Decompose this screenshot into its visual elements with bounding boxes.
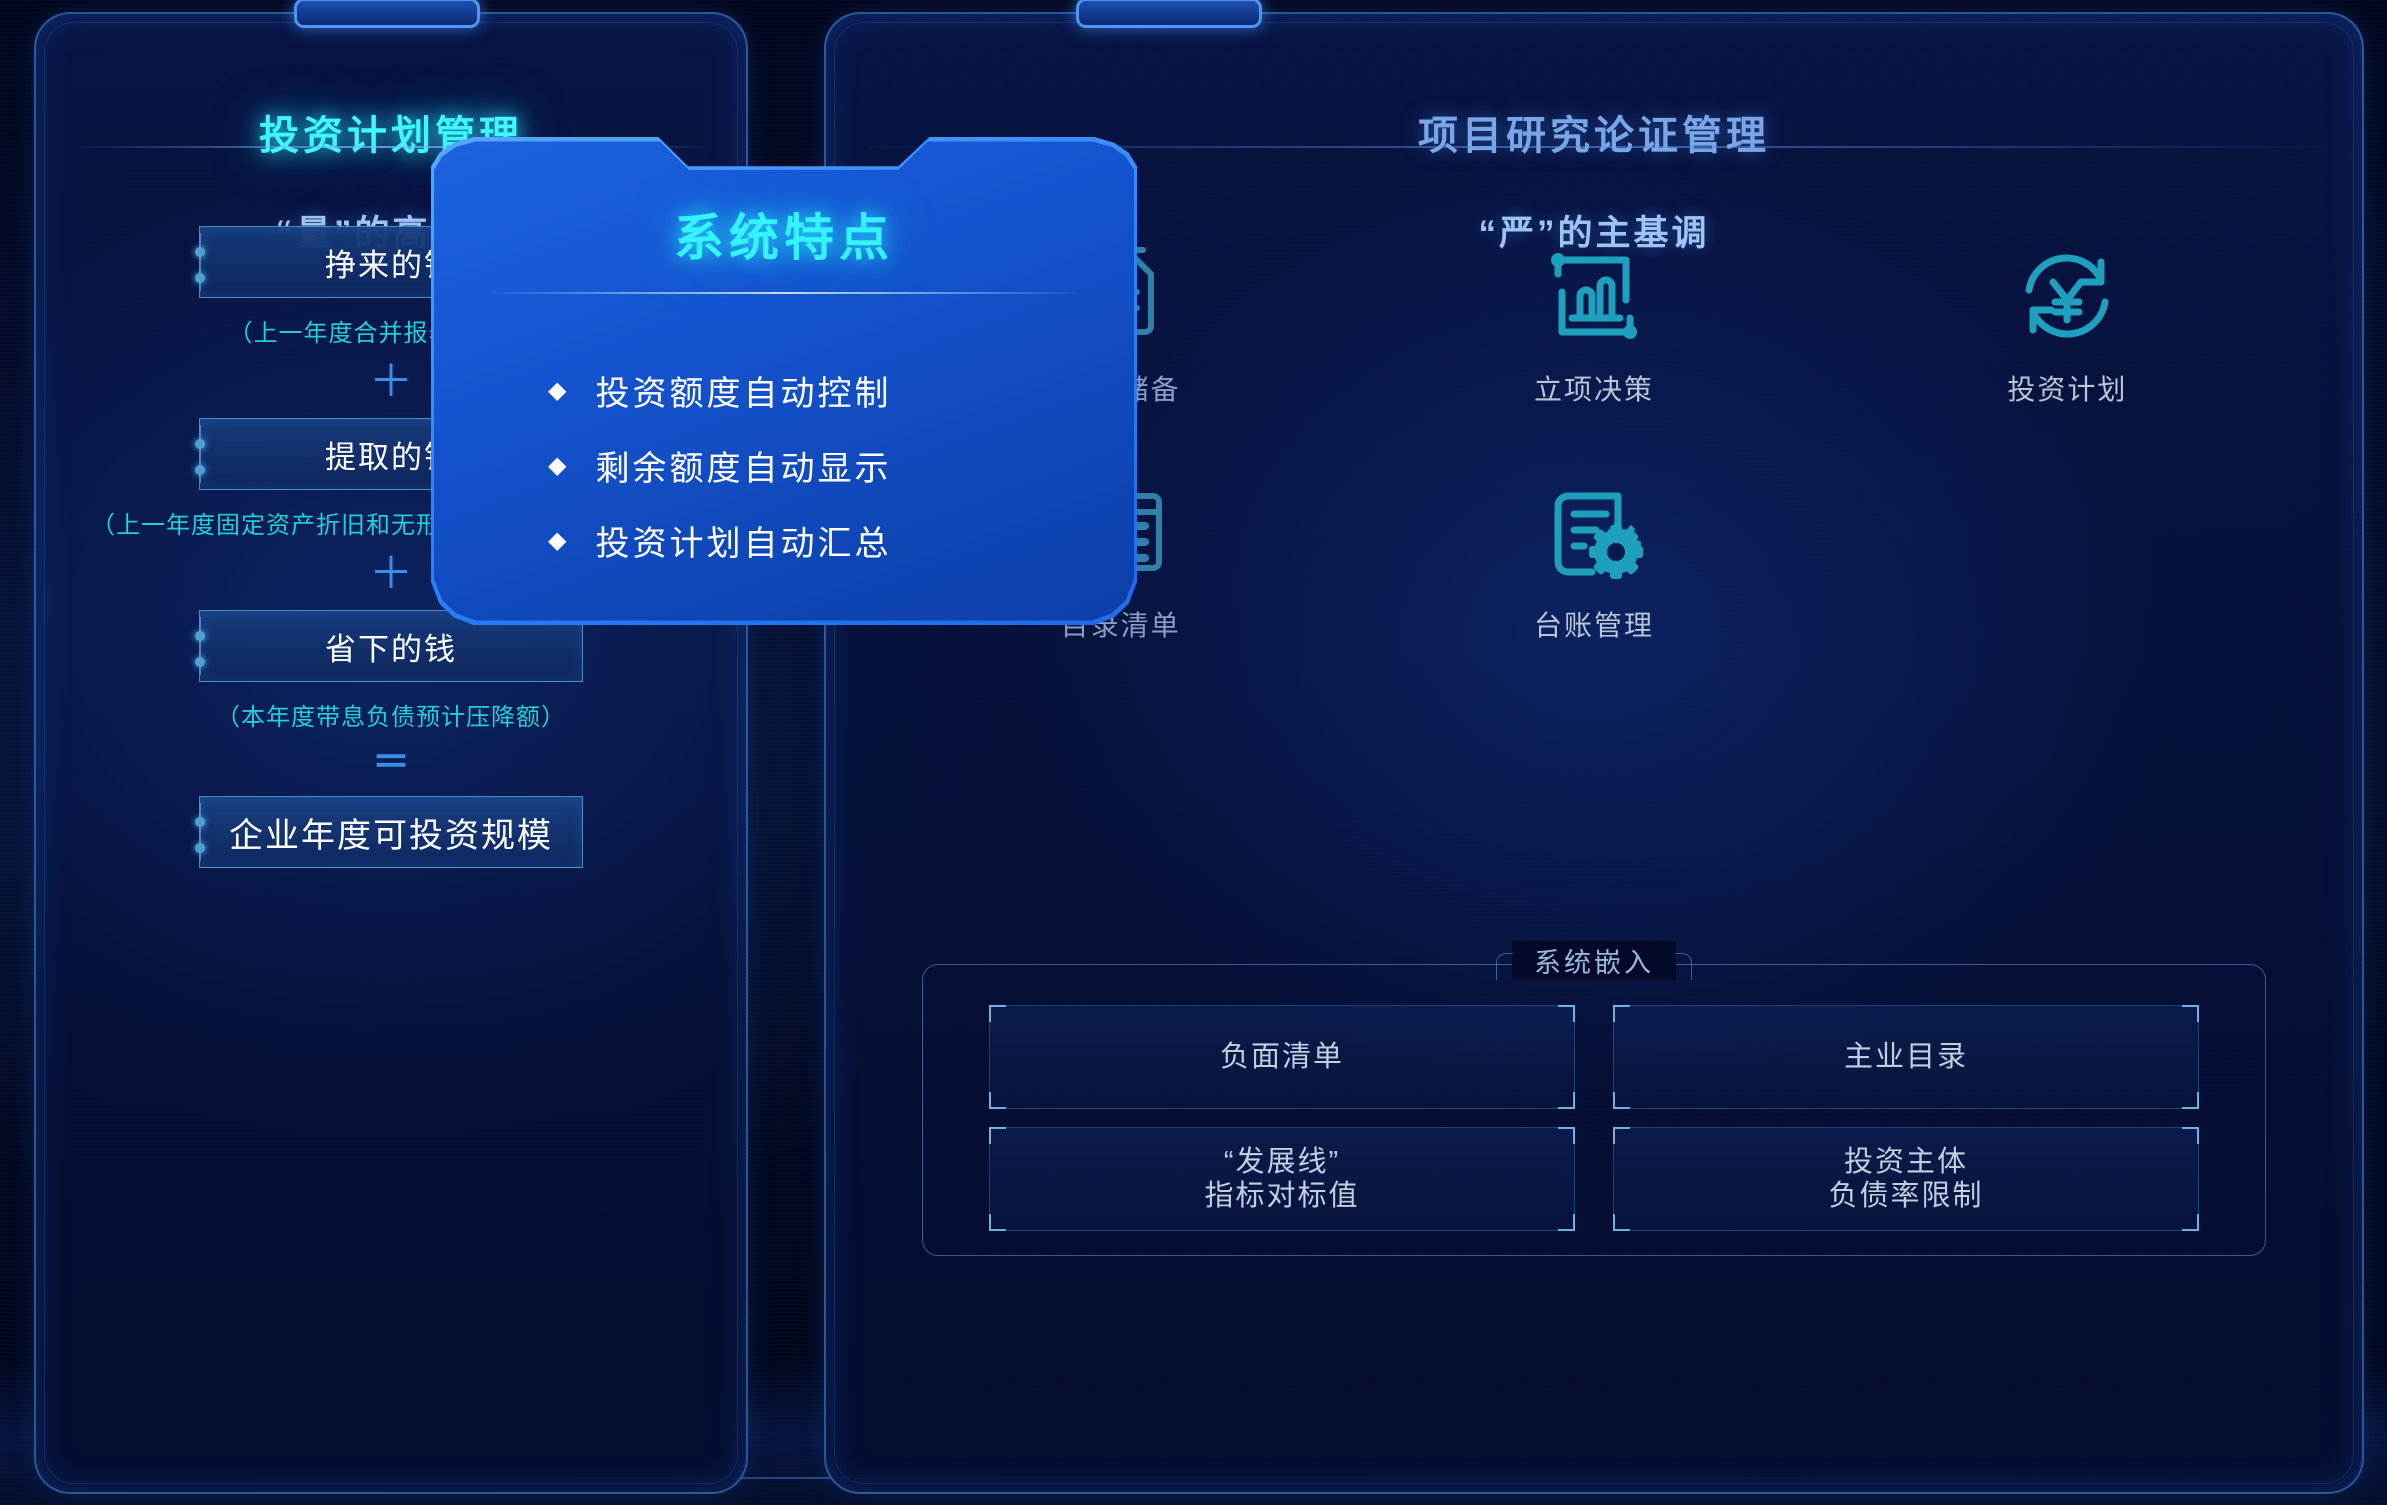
panel-notch-left [294,0,480,28]
corner-icon [1558,1005,1575,1022]
corner-icon [1613,1127,1630,1144]
corner-icon [1613,1005,1630,1022]
system-features-modal[interactable]: 系统特点 ◆ 投资额度自动控制 ◆ 剩余额度自动显示 ◆ 投资计划自动汇总 [434,140,1134,622]
embed-box-line2: 指标对标值 [1204,1180,1359,1212]
yen-refresh-icon [1831,242,2304,350]
modal-list-item-label: 投资额度自动控制 [595,366,891,415]
module-label: 立项决策 [1357,368,1830,408]
modal-feature-list: ◆ 投资额度自动控制 ◆ 剩余额度自动显示 ◆ 投资计划自动汇总 [474,366,1094,565]
formula-result-box[interactable]: 企业年度可投资规模 [199,796,583,868]
embed-box-line1: “发展线” [1224,1146,1340,1178]
corner-icon [1558,1127,1575,1144]
diamond-bullet-icon: ◆ [548,454,569,478]
corner-icon [2182,1092,2199,1109]
modal-divider [492,292,1076,294]
corner-icon [1558,1214,1575,1231]
modal-list-item[interactable]: ◆ 剩余额度自动显示 [548,441,1094,490]
embed-box-negative-list[interactable]: 负面清单 [989,1005,1575,1109]
formula-operator: ＝ [36,744,746,782]
module-item-project-decision[interactable]: 立项决策 [1357,242,1830,408]
bar-chart-bracket-icon [1357,242,1830,350]
module-item-ledger-management[interactable]: 台账管理 [1357,478,1830,644]
module-icon-spacer [1831,478,2304,644]
system-embed-grid: 负面清单 主业目录 “发展线” 指标对标值 [989,1005,2199,1231]
corner-icon [989,1005,1006,1022]
embed-box-line2: 负债率限制 [1828,1180,1983,1212]
corner-icon [1558,1092,1575,1109]
embed-box-development-line[interactable]: “发展线” 指标对标值 [989,1127,1575,1231]
corner-icon [1613,1092,1630,1109]
step-dot-bottom [195,273,205,283]
embed-box-investor-debt-ratio[interactable]: 投资主体 负债率限制 [1613,1127,2199,1231]
step-dot-bottom [195,657,205,667]
corner-icon [989,1214,1006,1231]
corner-icon [989,1127,1006,1144]
diamond-bullet-icon: ◆ [548,529,569,553]
module-label: 台账管理 [1357,604,1830,644]
module-item-investment-plan[interactable]: 投资计划 [1831,242,2304,408]
corner-icon [2182,1127,2199,1144]
embed-box-line1: 负面清单 [1220,1041,1344,1073]
modal-content: 系统特点 ◆ 投资额度自动控制 ◆ 剩余额度自动显示 ◆ 投资计划自动汇总 [434,140,1134,622]
step-dot-top [195,247,205,257]
embed-box-line1: 主业目录 [1844,1041,1968,1073]
modal-title: 系统特点 [474,198,1094,270]
system-embed-legend: 系统嵌入 [1512,941,1676,980]
embed-box-line1: 投资主体 [1844,1146,1968,1178]
corner-icon [989,1092,1006,1109]
diamond-bullet-icon: ◆ [548,379,569,403]
corner-icon [2182,1005,2199,1022]
corner-icon [1613,1214,1630,1231]
modal-list-item-label: 投资计划自动汇总 [595,516,891,565]
modal-list-item-label: 剩余额度自动显示 [595,441,891,490]
step-dot-top [195,439,205,449]
corner-icon [2182,1214,2199,1231]
result-dot-bottom [195,843,205,853]
formula-step-label: 省下的钱 [325,624,457,669]
system-embed-group: 系统嵌入 负面清单 主业目录 “发展线” [922,964,2266,1256]
step-dot-top [195,631,205,641]
document-gear-icon [1357,478,1830,586]
panel-notch-right [1076,0,1262,28]
module-label: 投资计划 [1831,368,2304,408]
modal-list-item[interactable]: ◆ 投资额度自动控制 [548,366,1094,415]
result-dot-top [195,817,205,827]
step-dot-bottom [195,465,205,475]
formula-result-label: 企业年度可投资规模 [229,808,553,857]
embed-box-main-business-catalog[interactable]: 主业目录 [1613,1005,2199,1109]
modal-list-item[interactable]: ◆ 投资计划自动汇总 [548,516,1094,565]
formula-step-note: （本年度带息负债预计压降额） [36,697,746,732]
